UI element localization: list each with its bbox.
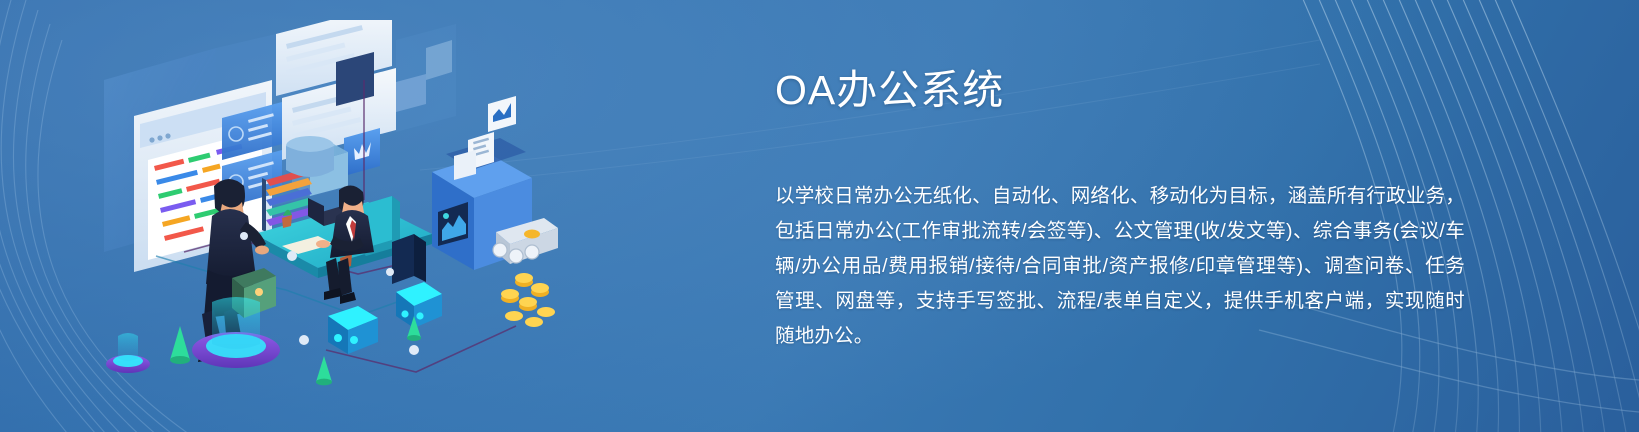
seated-businessman-at-desk	[316, 185, 400, 304]
banner-copy: OA办公系统 以学校日常办公无纸化、自动化、网络化、移动化为目标，涵盖所有行政业…	[775, 66, 1465, 354]
oa-banner: OA办公系统 以学校日常办公无纸化、自动化、网络化、移动化为目标，涵盖所有行政业…	[0, 0, 1639, 432]
gold-coins-stack	[501, 273, 555, 327]
isometric-office-workflow-illustration	[96, 20, 566, 390]
banner-description: 以学校日常办公无纸化、自动化、网络化、移动化为目标，涵盖所有行政业务，包括日常办…	[775, 179, 1465, 354]
page-title: OA办公系统	[775, 66, 1465, 115]
connector-wires-teal	[156, 256, 414, 316]
printer-machine-with-conveyor	[432, 96, 558, 270]
